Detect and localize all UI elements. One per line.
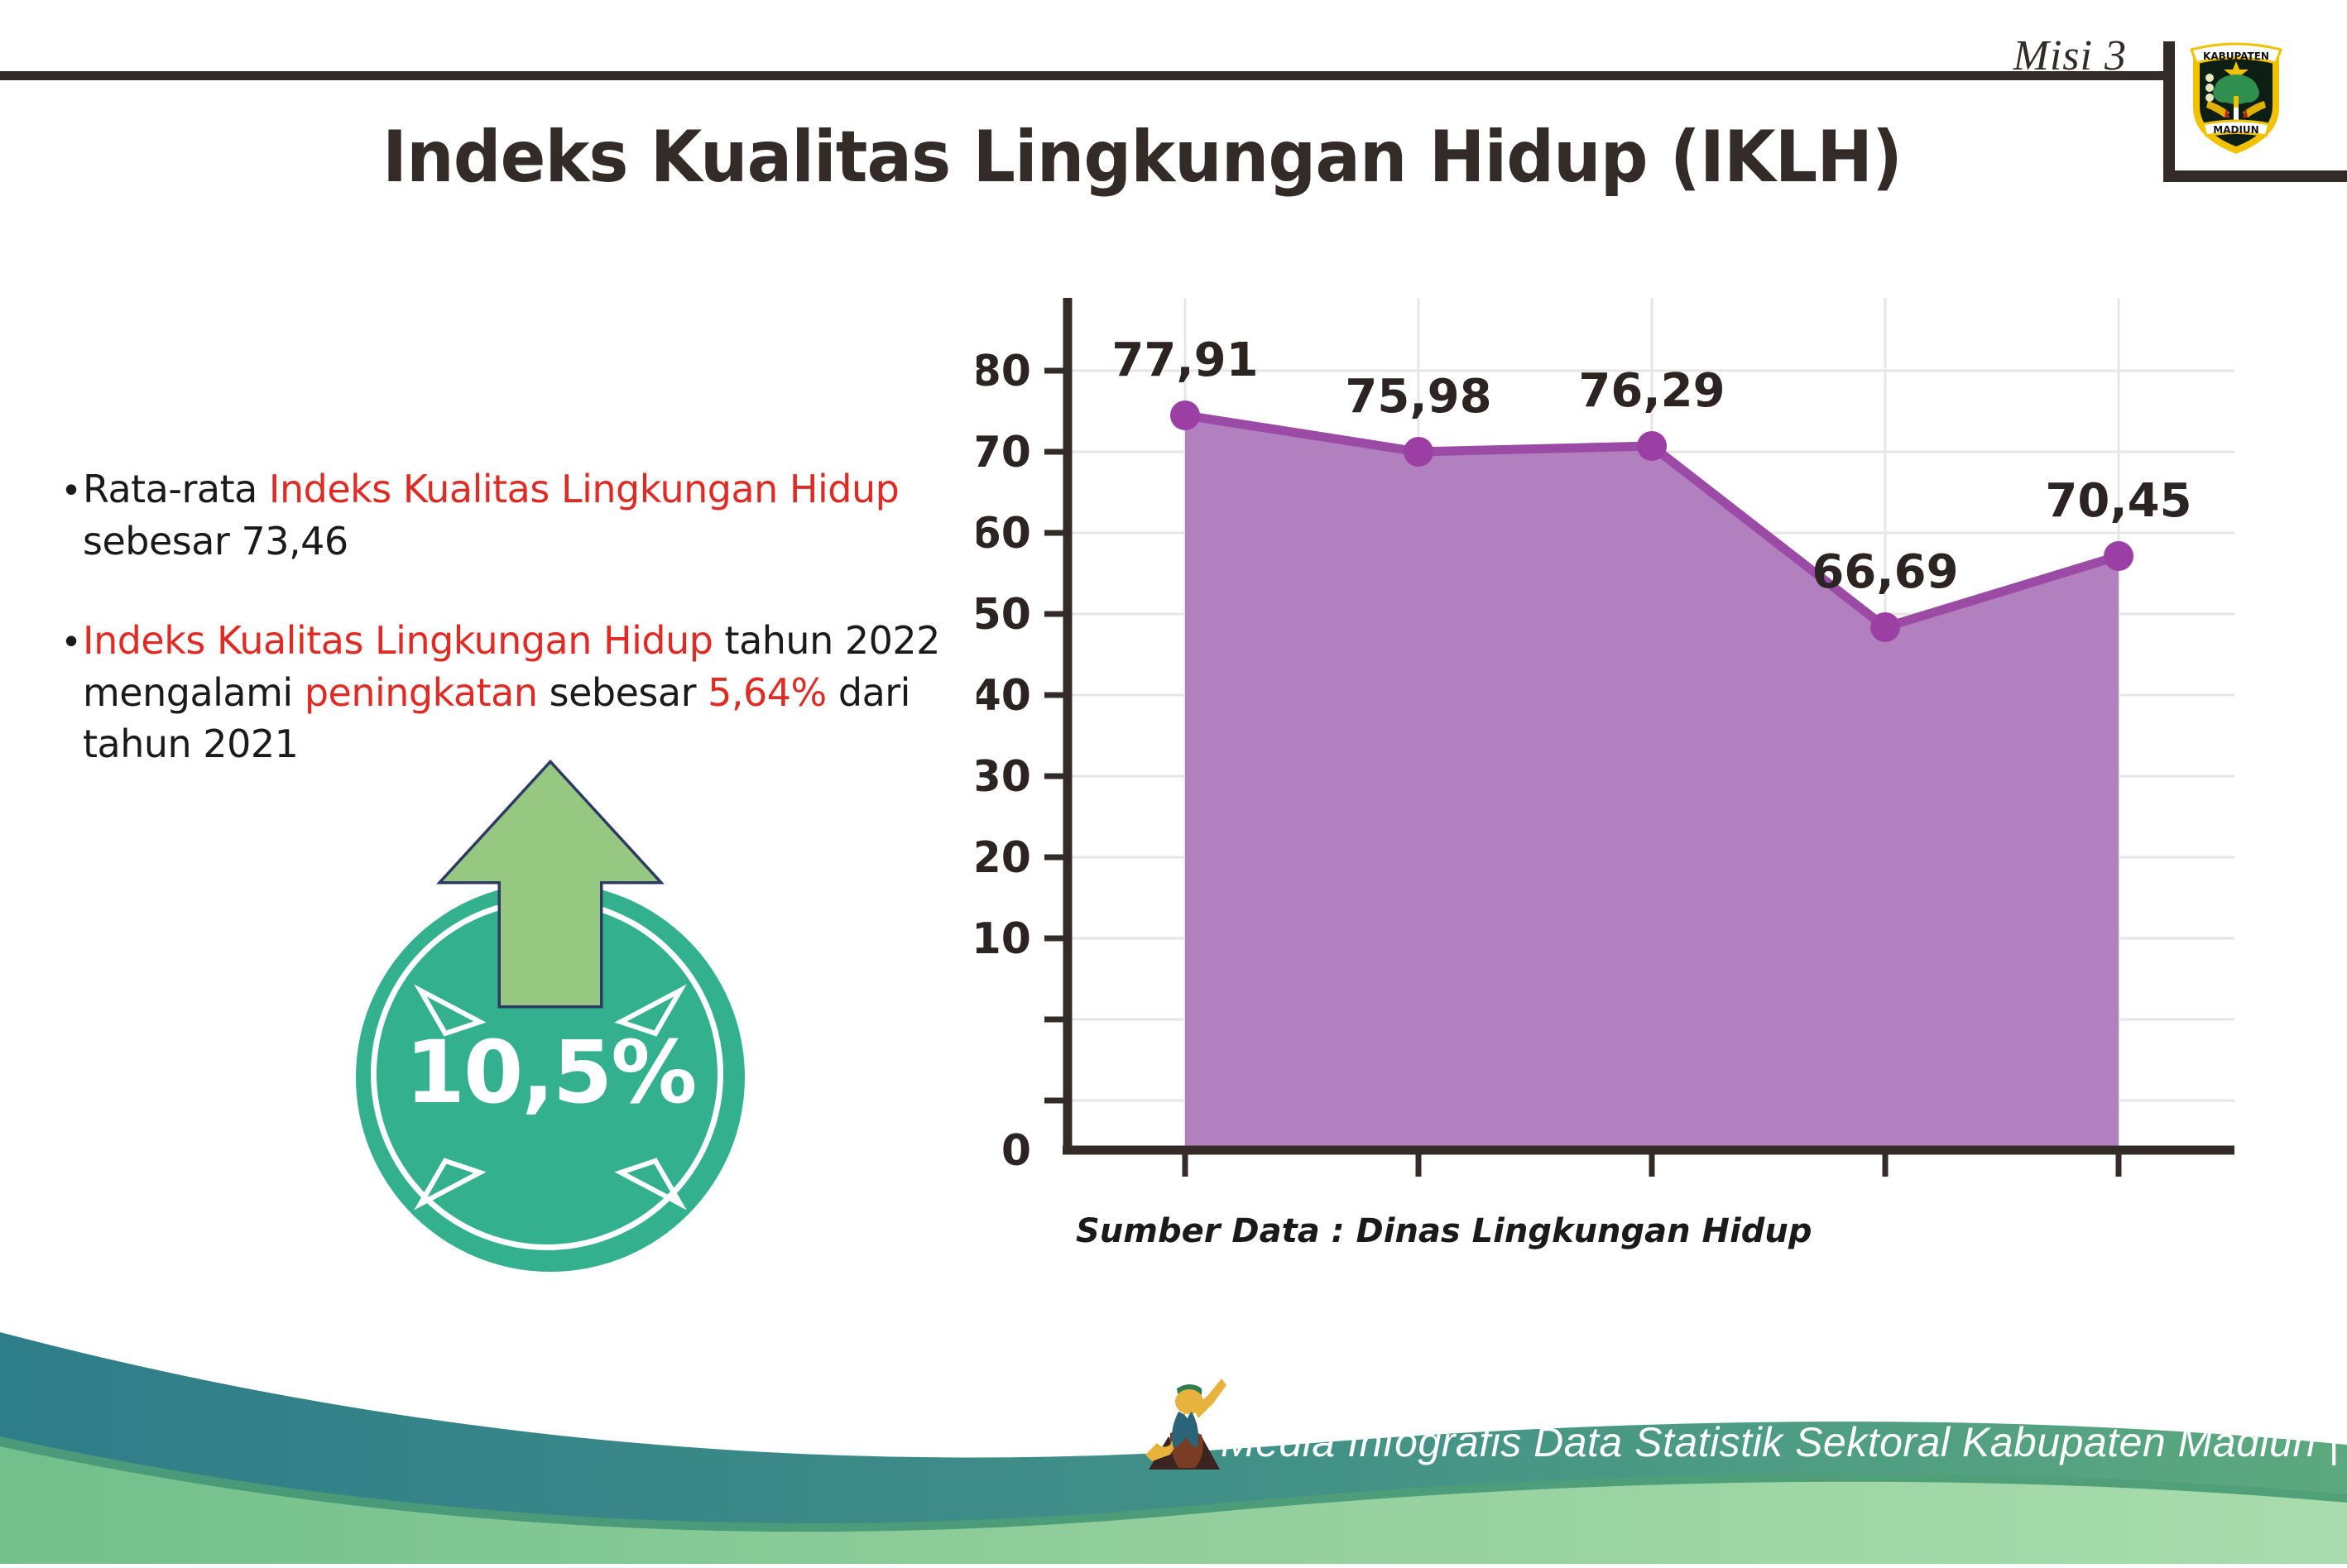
dancer-logo-icon bbox=[1134, 1364, 1233, 1488]
y-tick-label-50: 50 bbox=[977, 590, 1031, 640]
data-point-2022 bbox=[2104, 541, 2133, 571]
data-point-2018 bbox=[1170, 400, 1200, 430]
list-item: • Indeks Kualitas Lingkungan Hidup tahun… bbox=[65, 615, 991, 770]
list-item: • Rata-rata Indeks Kualitas Lingkungan H… bbox=[65, 463, 991, 567]
bullet-marker: • bbox=[65, 615, 83, 666]
bullet-segment: sebesar 73,46 bbox=[83, 519, 348, 563]
data-label-2022: 70,45 bbox=[2045, 474, 2191, 528]
bullet-segment-highlight: 5,64% bbox=[708, 670, 827, 715]
bullet-text-2: Indeks Kualitas Lingkungan Hidup tahun 2… bbox=[83, 615, 991, 770]
data-point-2021 bbox=[1870, 612, 1900, 642]
x-tick-label-2018: 2018 bbox=[1116, 1197, 1255, 1200]
y-tick-label-20: 20 bbox=[977, 833, 1031, 883]
x-tick-label-2019: 2019 bbox=[1350, 1197, 1488, 1200]
crest-top-label: KABUPATEN bbox=[2203, 50, 2269, 62]
bullet-text-1: Rata-rata Indeks Kualitas Lingkungan Hid… bbox=[83, 463, 991, 567]
misi-label: Misi 3 bbox=[1862, 31, 2127, 80]
data-label-2019: 75,98 bbox=[1345, 370, 1491, 424]
triangle-marker-bottom-right bbox=[621, 1161, 680, 1204]
y-tick-label-10: 10 bbox=[977, 914, 1031, 964]
page-title: Indeks Kualitas Lingkungan Hidup (IKLH) bbox=[69, 116, 2215, 199]
bullet-segment-highlight: Indeks Kualitas Lingkungan Hidup bbox=[83, 618, 713, 663]
x-tick-label-2020: 2020 bbox=[1583, 1197, 1721, 1200]
footer: Media Infografis Data Statistik Sektoral… bbox=[0, 1299, 2347, 1564]
data-label-2018: 77,91 bbox=[1111, 333, 1258, 387]
x-tick-label-2021: 2021 bbox=[1817, 1197, 1955, 1200]
increase-badge: 10,5% bbox=[331, 757, 745, 1220]
chart-source-note: Sumber Data : Dinas Lingkungan Hidup bbox=[1076, 1212, 1812, 1250]
x-tick-label-2022: 2022 bbox=[2050, 1197, 2188, 1200]
data-point-2019 bbox=[1404, 437, 1433, 467]
triangle-marker-bottom-left bbox=[420, 1161, 480, 1204]
footer-caption: Media Infografis Data Statistik Sektoral… bbox=[1221, 1418, 2340, 1466]
y-tick-label-0: 0 bbox=[1001, 1126, 1031, 1176]
badge-percent-label: 10,5% bbox=[356, 1022, 745, 1123]
header-rule bbox=[0, 71, 2165, 80]
crest-bottom-label: MADIUN bbox=[2213, 124, 2258, 136]
bullet-segment: sebesar bbox=[538, 670, 708, 715]
bullet-marker: • bbox=[65, 463, 83, 515]
data-label-2021: 66,69 bbox=[1812, 545, 1958, 599]
chart-area-fill bbox=[1185, 415, 2119, 1150]
y-tick-label-30: 30 bbox=[977, 752, 1031, 802]
data-point-2020 bbox=[1637, 431, 1667, 461]
bullet-segment: Rata-rata bbox=[83, 467, 269, 511]
y-tick-label-80: 80 bbox=[977, 347, 1031, 396]
y-tick-label-40: 40 bbox=[977, 671, 1031, 721]
chart-svg: 77,91 75,98 76,29 66,69 70,45 80 70 60 5… bbox=[977, 290, 2268, 1200]
bullet-segment-highlight: Indeks Kualitas Lingkungan Hidup bbox=[269, 467, 899, 511]
data-label-2020: 76,29 bbox=[1578, 364, 1725, 418]
y-tick-label-70: 70 bbox=[977, 428, 1031, 477]
iklh-area-chart: 77,91 75,98 76,29 66,69 70,45 80 70 60 5… bbox=[977, 290, 2268, 1200]
bullet-segment-highlight: peningkatan bbox=[305, 670, 538, 715]
y-tick-label-60: 60 bbox=[977, 509, 1031, 559]
